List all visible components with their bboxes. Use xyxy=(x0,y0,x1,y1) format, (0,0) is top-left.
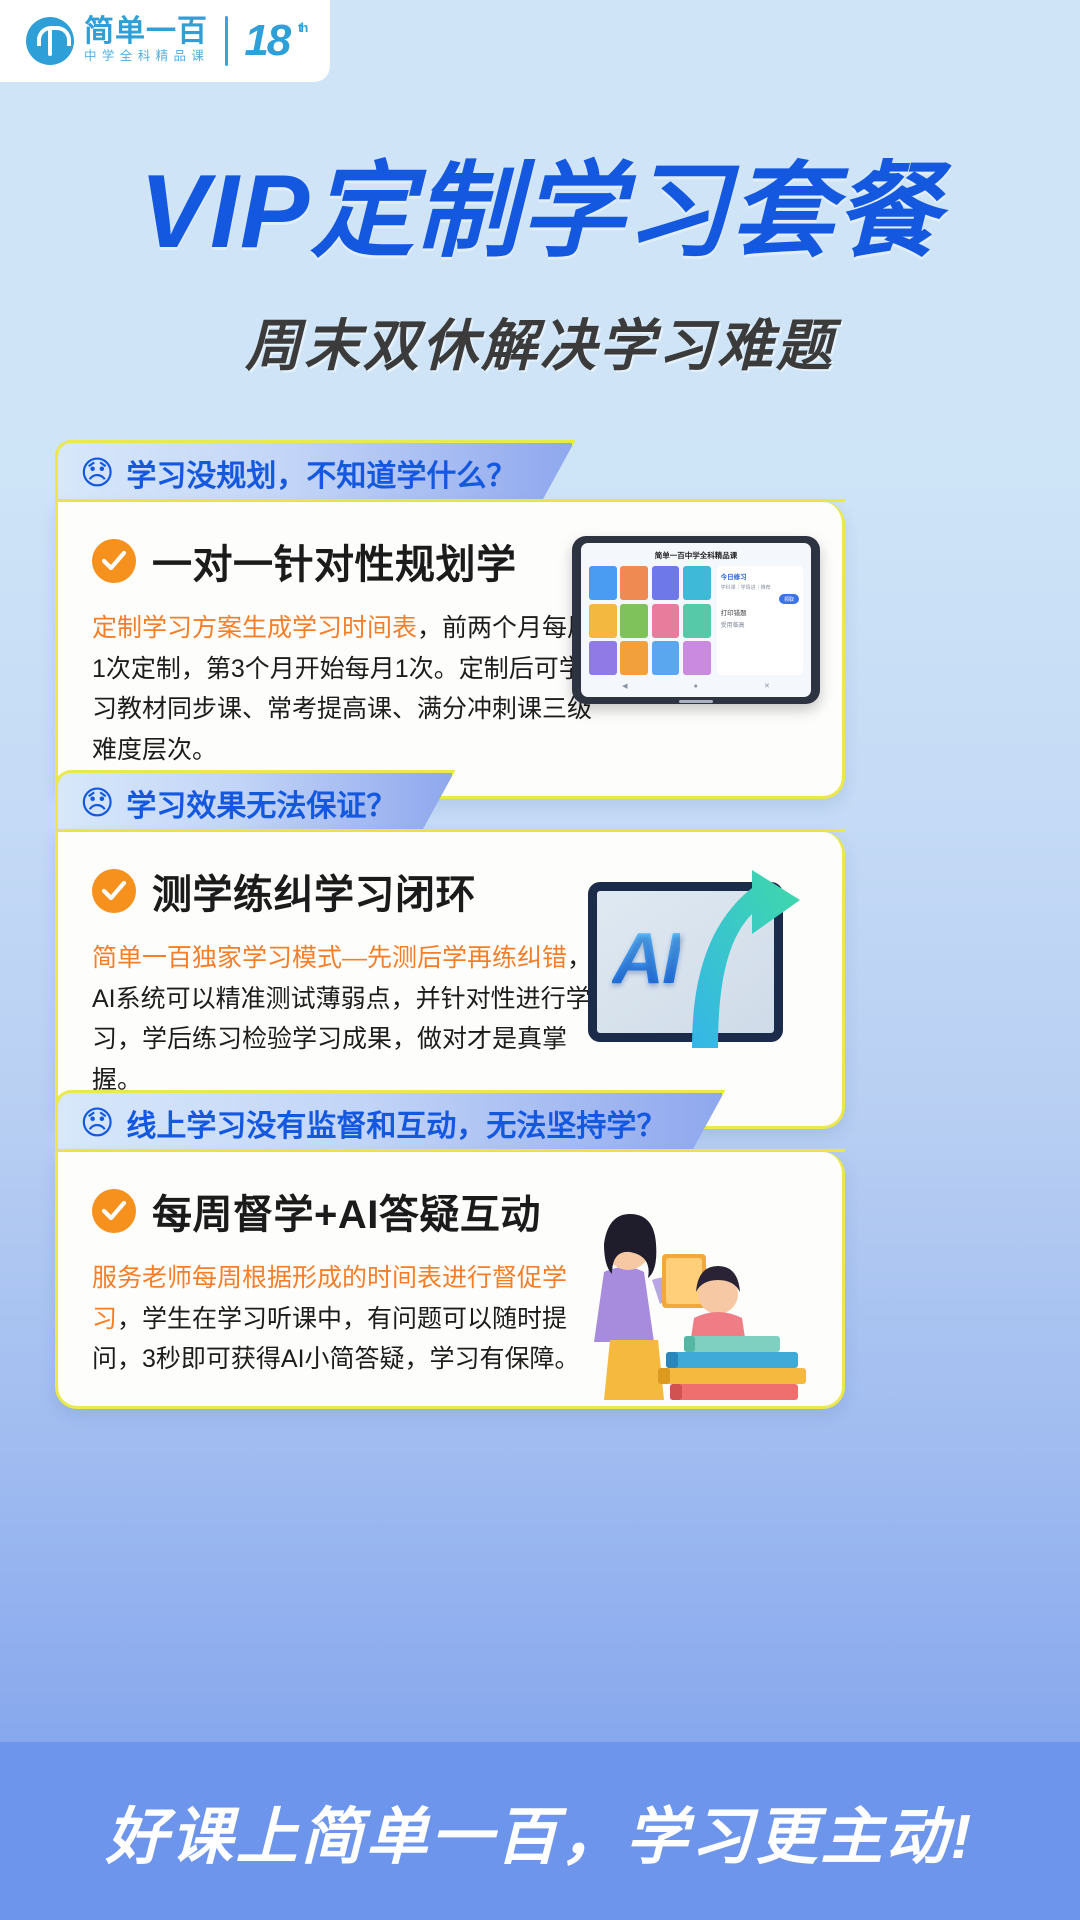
tablet-panel-button[interactable]: 领取 xyxy=(779,594,799,604)
sad-face-icon: 😞 xyxy=(80,786,114,819)
tablet-tile xyxy=(620,566,648,600)
tablet-screen: 简单一百中学全科精品课 xyxy=(581,543,811,697)
feature-card-body-2: 简单一百独家学习模式—先测后学再练纠错，AI系统可以精准测试薄弱点，并针对性进行… xyxy=(92,938,597,1100)
check-icon xyxy=(92,1189,136,1233)
tablet-screen-header: 简单一百中学全科精品课 xyxy=(589,550,803,561)
tablet-close-icon: ✕ xyxy=(764,682,770,690)
brand-tagline: 中学全科精品课 xyxy=(84,47,209,66)
feature-card-title-3: 每周督学+AI答疑互动 xyxy=(152,1182,541,1240)
tablet-tile xyxy=(652,604,680,638)
question-tab-label-3: 线上学习没有监督和互动，无法坚持学？ xyxy=(126,1101,666,1145)
tablet-side-panel: 今日修习 学科课｜学情进｜推荐 领取 打印错题 受用临高 xyxy=(717,566,803,675)
ai-label: AI xyxy=(612,918,680,1000)
tablet-panel-subtitle: 学科课｜学情进｜推荐 xyxy=(721,584,799,591)
feature-card-title-1: 一对一针对性规划学 xyxy=(152,532,517,590)
tablet-home-icon: ● xyxy=(694,683,698,690)
brand-name: 简单一百 xyxy=(84,16,209,48)
tablet-tile xyxy=(589,604,617,638)
ai-illustration: AI xyxy=(578,846,828,1061)
feature-section-1: 😞 学习没规划，不知道学什么？ 一对一针对性规划学 定制学习方案生成学习时间表，… xyxy=(55,440,845,799)
tablet-tile xyxy=(589,641,617,675)
tablet-subject-grid xyxy=(589,566,711,675)
tablet-tile xyxy=(683,604,711,638)
footer-slogan: 好课上简单一百，学习更主动! xyxy=(106,1786,975,1876)
tablet-panel-line-1: 打印错题 xyxy=(721,607,799,617)
feature-card-3: 每周督学+AI答疑互动 服务老师每周根据形成的时间表进行督促学习，学生在学习听课… xyxy=(55,1152,845,1409)
feature-card-1: 一对一针对性规划学 定制学习方案生成学习时间表，前两个月每周1次定制，第3个月开… xyxy=(55,502,845,799)
tablet-tile xyxy=(683,566,711,600)
question-tab-3[interactable]: 😞 线上学习没有监督和互动，无法坚持学？ xyxy=(55,1090,725,1152)
growth-arrow-icon xyxy=(674,848,824,1053)
anniversary-badge: 18 th xyxy=(244,19,289,63)
feature-body-highlight-1: 定制学习方案生成学习时间表 xyxy=(92,614,417,642)
tablet-nav-bar: ◀ ● ✕ xyxy=(589,680,803,690)
feature-card-body-3: 服务老师每周根据形成的时间表进行督促学习，学生在学习听课中，有问题可以随时提问，… xyxy=(92,1258,597,1380)
sprout-logo-icon xyxy=(26,17,74,65)
question-tab-wrap-1: 😞 学习没规划，不知道学什么？ xyxy=(55,440,845,502)
tablet-tile xyxy=(683,641,711,675)
question-tab-label-2: 学习效果无法保证？ xyxy=(126,781,396,825)
feature-body-highlight-2: 简单一百独家学习模式—先测后学再练纠错 xyxy=(92,944,567,972)
tablet-screen-body: 今日修习 学科课｜学情进｜推荐 领取 打印错题 受用临高 xyxy=(589,566,803,675)
sad-face-icon: 😞 xyxy=(80,456,114,489)
feature-section-2: 😞 学习效果无法保证？ 测学练纠学习闭环 简单一百独家学习模式—先测后学再练纠错… xyxy=(55,770,845,1129)
feature-card-2: 测学练纠学习闭环 简单一百独家学习模式—先测后学再练纠错，AI系统可以精准测试薄… xyxy=(55,832,845,1129)
anniversary-suffix: th xyxy=(298,21,306,34)
sad-face-icon: 😞 xyxy=(80,1106,114,1139)
tablet-tile xyxy=(652,566,680,600)
tablet-panel-line-2: 受用临高 xyxy=(721,620,799,629)
page-title: VIP定制学习套餐 xyxy=(0,160,1080,264)
feature-card-title-2: 测学练纠学习闭环 xyxy=(152,862,476,920)
question-tab-wrap-3: 😞 线上学习没有监督和互动，无法坚持学？ xyxy=(55,1090,845,1152)
tablet-tile xyxy=(589,566,617,600)
students-books-illustration xyxy=(566,1176,834,1401)
question-tab-1[interactable]: 😞 学习没规划，不知道学什么？ xyxy=(55,440,575,502)
feature-section-3: 😞 线上学习没有监督和互动，无法坚持学？ 每周督学+AI答疑互动 服务老师每周根… xyxy=(55,1090,845,1409)
tablet-illustration: 简单一百中学全科精品课 xyxy=(572,536,820,704)
brand-text: 简单一百 中学全科精品课 xyxy=(84,16,209,66)
tablet-tile xyxy=(652,641,680,675)
tablet-back-icon: ◀ xyxy=(622,682,627,690)
logo-divider xyxy=(225,16,228,66)
page-subtitle: 周末双休解决学习难题 xyxy=(0,318,1080,374)
question-tab-wrap-2: 😞 学习效果无法保证？ xyxy=(55,770,845,832)
tablet-home-indicator xyxy=(679,700,713,703)
brand-logo-bar: 简单一百 中学全科精品课 18 th xyxy=(0,0,330,82)
check-icon xyxy=(92,539,136,583)
feature-card-body-1: 定制学习方案生成学习时间表，前两个月每周1次定制，第3个月开始每月1次。定制后可… xyxy=(92,608,597,770)
footer-banner: 好课上简单一百，学习更主动! xyxy=(0,1742,1080,1920)
tablet-panel-title: 今日修习 xyxy=(721,571,799,581)
check-icon xyxy=(92,869,136,913)
question-tab-label-1: 学习没规划，不知道学什么？ xyxy=(126,451,516,495)
tablet-tile xyxy=(620,604,648,638)
feature-body-rest-3: ，学生在学习听课中，有问题可以随时提问，3秒即可获得AI小简答疑，学习有保障。 xyxy=(92,1305,580,1374)
question-tab-2[interactable]: 😞 学习效果无法保证？ xyxy=(55,770,455,832)
anniversary-number: 18 xyxy=(244,16,289,65)
tablet-tile xyxy=(620,641,648,675)
